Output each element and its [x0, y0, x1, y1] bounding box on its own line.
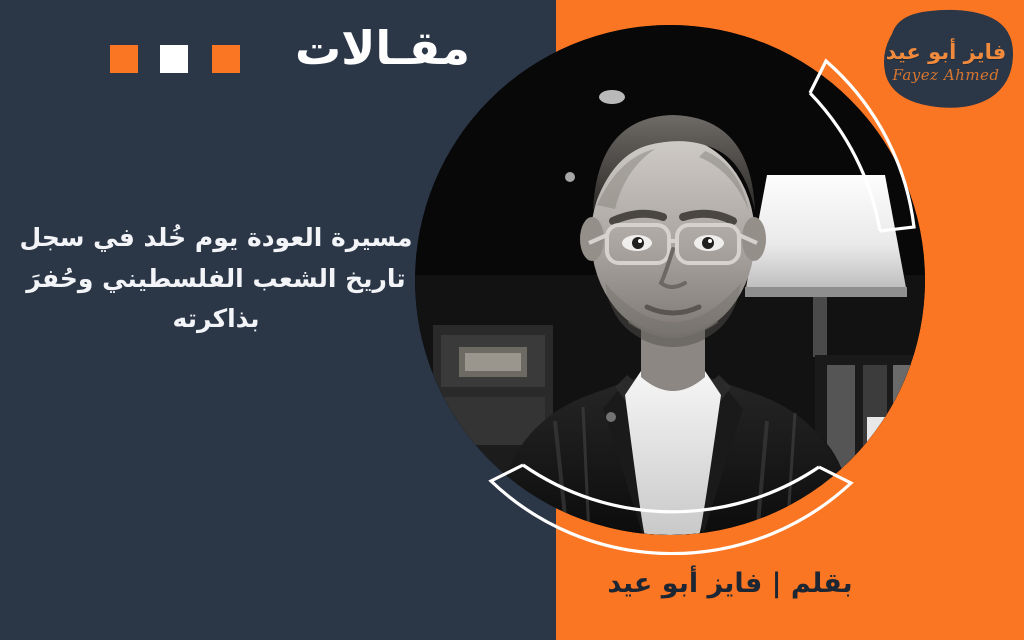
square-1-icon: [110, 45, 138, 73]
section-title: مقـالات: [300, 22, 470, 75]
square-3-icon: [212, 45, 240, 73]
logo-signature: Fayez Ahmed: [872, 66, 1020, 84]
header-square-group: [110, 45, 240, 73]
portrait-illustration: [415, 25, 925, 535]
article-cover-poster: مقـالات مسيرة العودة يوم خُلد في سجل تار…: [0, 0, 1024, 640]
logo-word-mark: فايز أبو عيد: [872, 40, 1020, 64]
byline: بقلم | فايز أبو عيد: [560, 568, 900, 599]
author-portrait: [415, 25, 925, 535]
brand-logo[interactable]: فايز أبو عيد Fayez Ahmed: [872, 4, 1020, 112]
square-2-icon: [160, 45, 188, 73]
article-headline: مسيرة العودة يوم خُلد في سجل تاريخ الشعب…: [18, 218, 414, 340]
